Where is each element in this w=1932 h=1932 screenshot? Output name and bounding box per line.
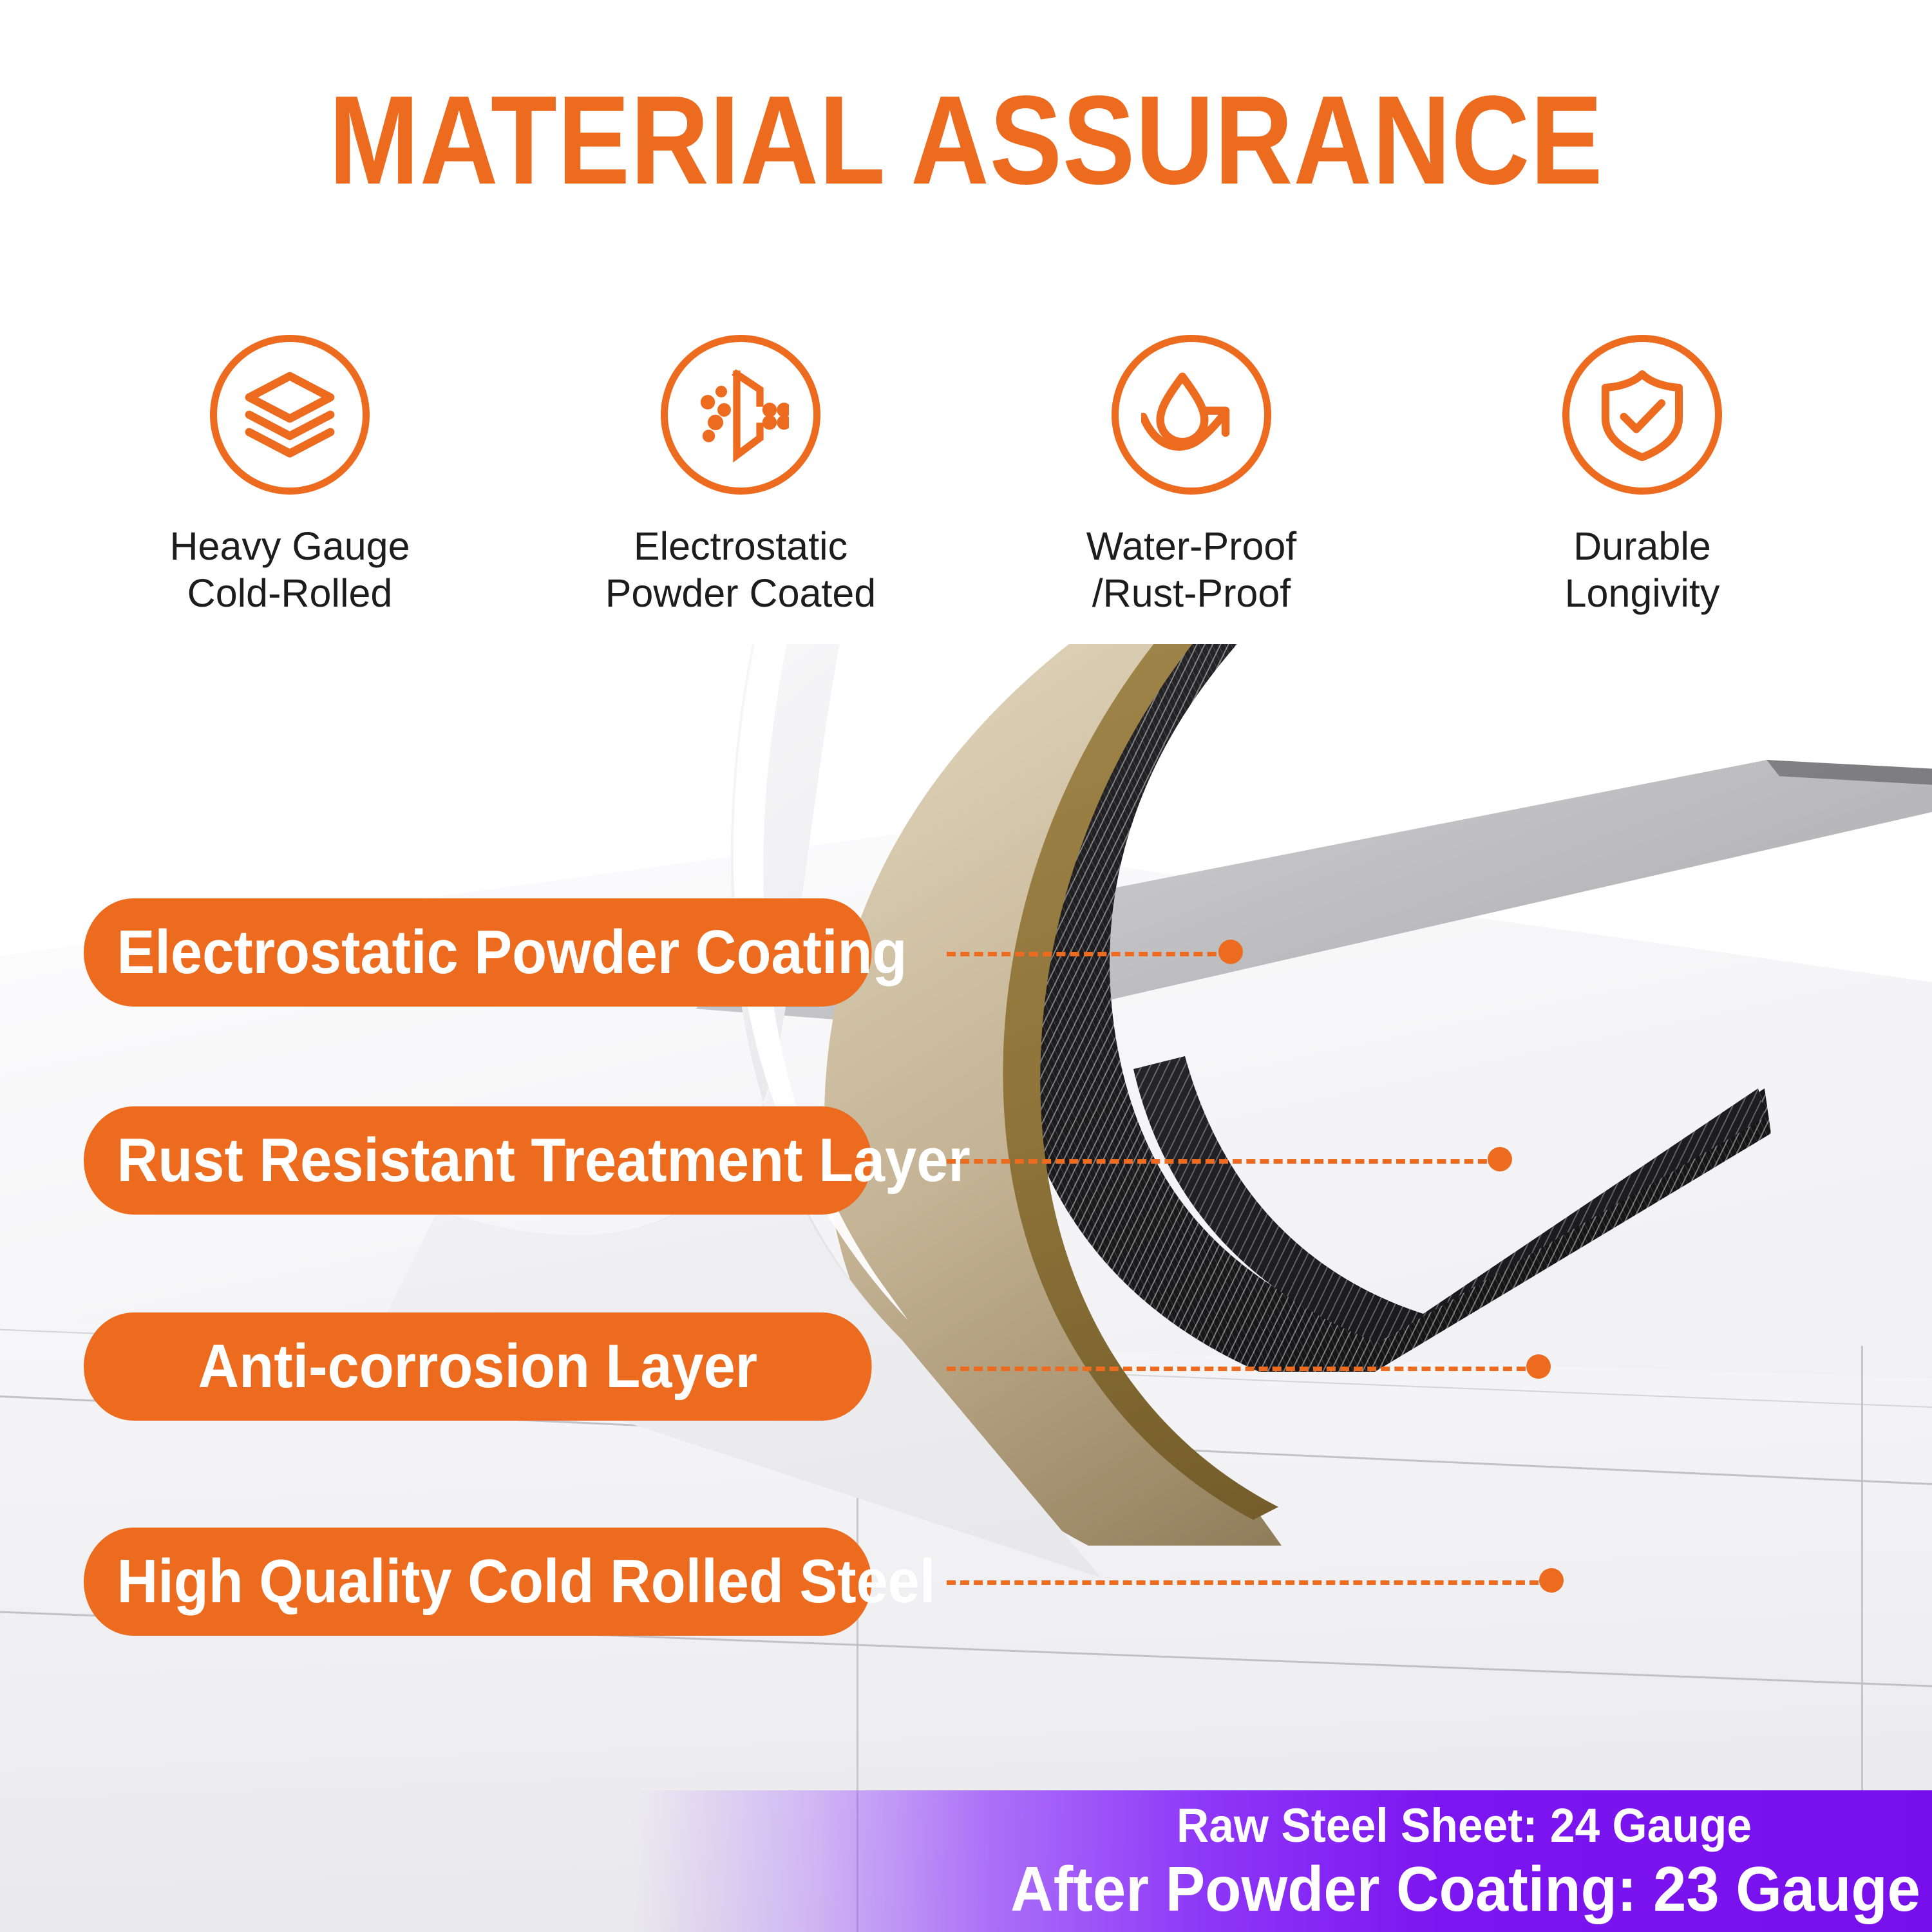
callout-anchor-dot [1539,1568,1564,1593]
shield-check-icon [1594,366,1690,463]
feature-caption-line-2: Longivity [1565,570,1720,617]
callout-pill-cold-rolled-steel: High Quality Cold Rolled Steel [84,1528,872,1636]
water-droplet-repel-icon [1141,365,1242,465]
feature-caption-line-1: Water-Proof [1086,523,1297,570]
feature-water-proof-rust-proof: Water-Proof /Rust-Proof [966,335,1417,617]
feature-heavy-gauge-cold-rolled: Heavy Gauge Cold-Rolled [64,335,515,617]
callout-pill-rust-resistant: Rust Resistant Treatment Layer [84,1106,872,1215]
callout-label: Anti-corrosion Layer [198,1336,757,1397]
callout-leader-line [947,1367,1539,1371]
feature-icon-badge [210,335,370,495]
feature-caption-line-1: Durable [1565,523,1720,570]
gauge-banner: Raw Steel Sheet: 24 Gauge After Powder C… [631,1790,1932,1932]
feature-caption-line-2: Powder Coated [605,570,876,617]
gauge-raw-steel-text: Raw Steel Sheet: 24 Gauge [1177,1802,1752,1850]
feature-caption-line-1: Electrostatic [605,523,876,570]
powder-spray-icon [692,366,789,463]
callout-anchor-dot [1526,1354,1551,1379]
callout-leader-line [947,952,1230,956]
gauge-after-coating-text: After Powder Coating: 23 Gauge [1010,1857,1920,1920]
callout-leader-line [947,1159,1501,1164]
feature-icon-badge [1112,335,1271,495]
callout-label: High Quality Cold Rolled Steel [117,1551,936,1613]
feature-caption-line-2: /Rust-Proof [1086,570,1297,617]
callout-label: Rust Resistant Treatment Layer [117,1130,971,1191]
feature-icon-badge [1562,335,1722,495]
feature-row: Heavy Gauge Cold-Rolled [64,335,1868,670]
callout-anchor-dot [1488,1147,1512,1171]
callout-pill-anti-corrosion: Anti-corrosion Layer [84,1312,872,1421]
feature-caption: Water-Proof /Rust-Proof [1086,523,1297,617]
feature-caption: Durable Longivity [1565,523,1720,617]
feature-durable-longivity: Durable Longivity [1417,335,1868,617]
feature-caption: Electrostatic Powder Coated [605,523,876,617]
feature-electrostatic-powder-coated: Electrostatic Powder Coated [515,335,966,617]
feature-caption: Heavy Gauge Cold-Rolled [170,523,410,617]
callout-pill-powder-coating: Electrostatic Powder Coating [84,898,872,1007]
feature-caption-line-2: Cold-Rolled [170,570,410,617]
page-title: MATERIAL ASSURANCE [135,77,1797,204]
feature-icon-badge [661,335,820,495]
layers-icon [241,366,338,463]
callout-anchor-dot [1218,940,1243,964]
layered-steel-illustration [0,644,1932,1932]
callout-leader-line [947,1580,1552,1585]
infographic-canvas: MATERIAL ASSURANCE Heavy Gauge Cold-Roll… [0,0,1932,1932]
callout-label: Electrostatic Powder Coating [117,922,907,983]
feature-caption-line-1: Heavy Gauge [170,523,410,570]
